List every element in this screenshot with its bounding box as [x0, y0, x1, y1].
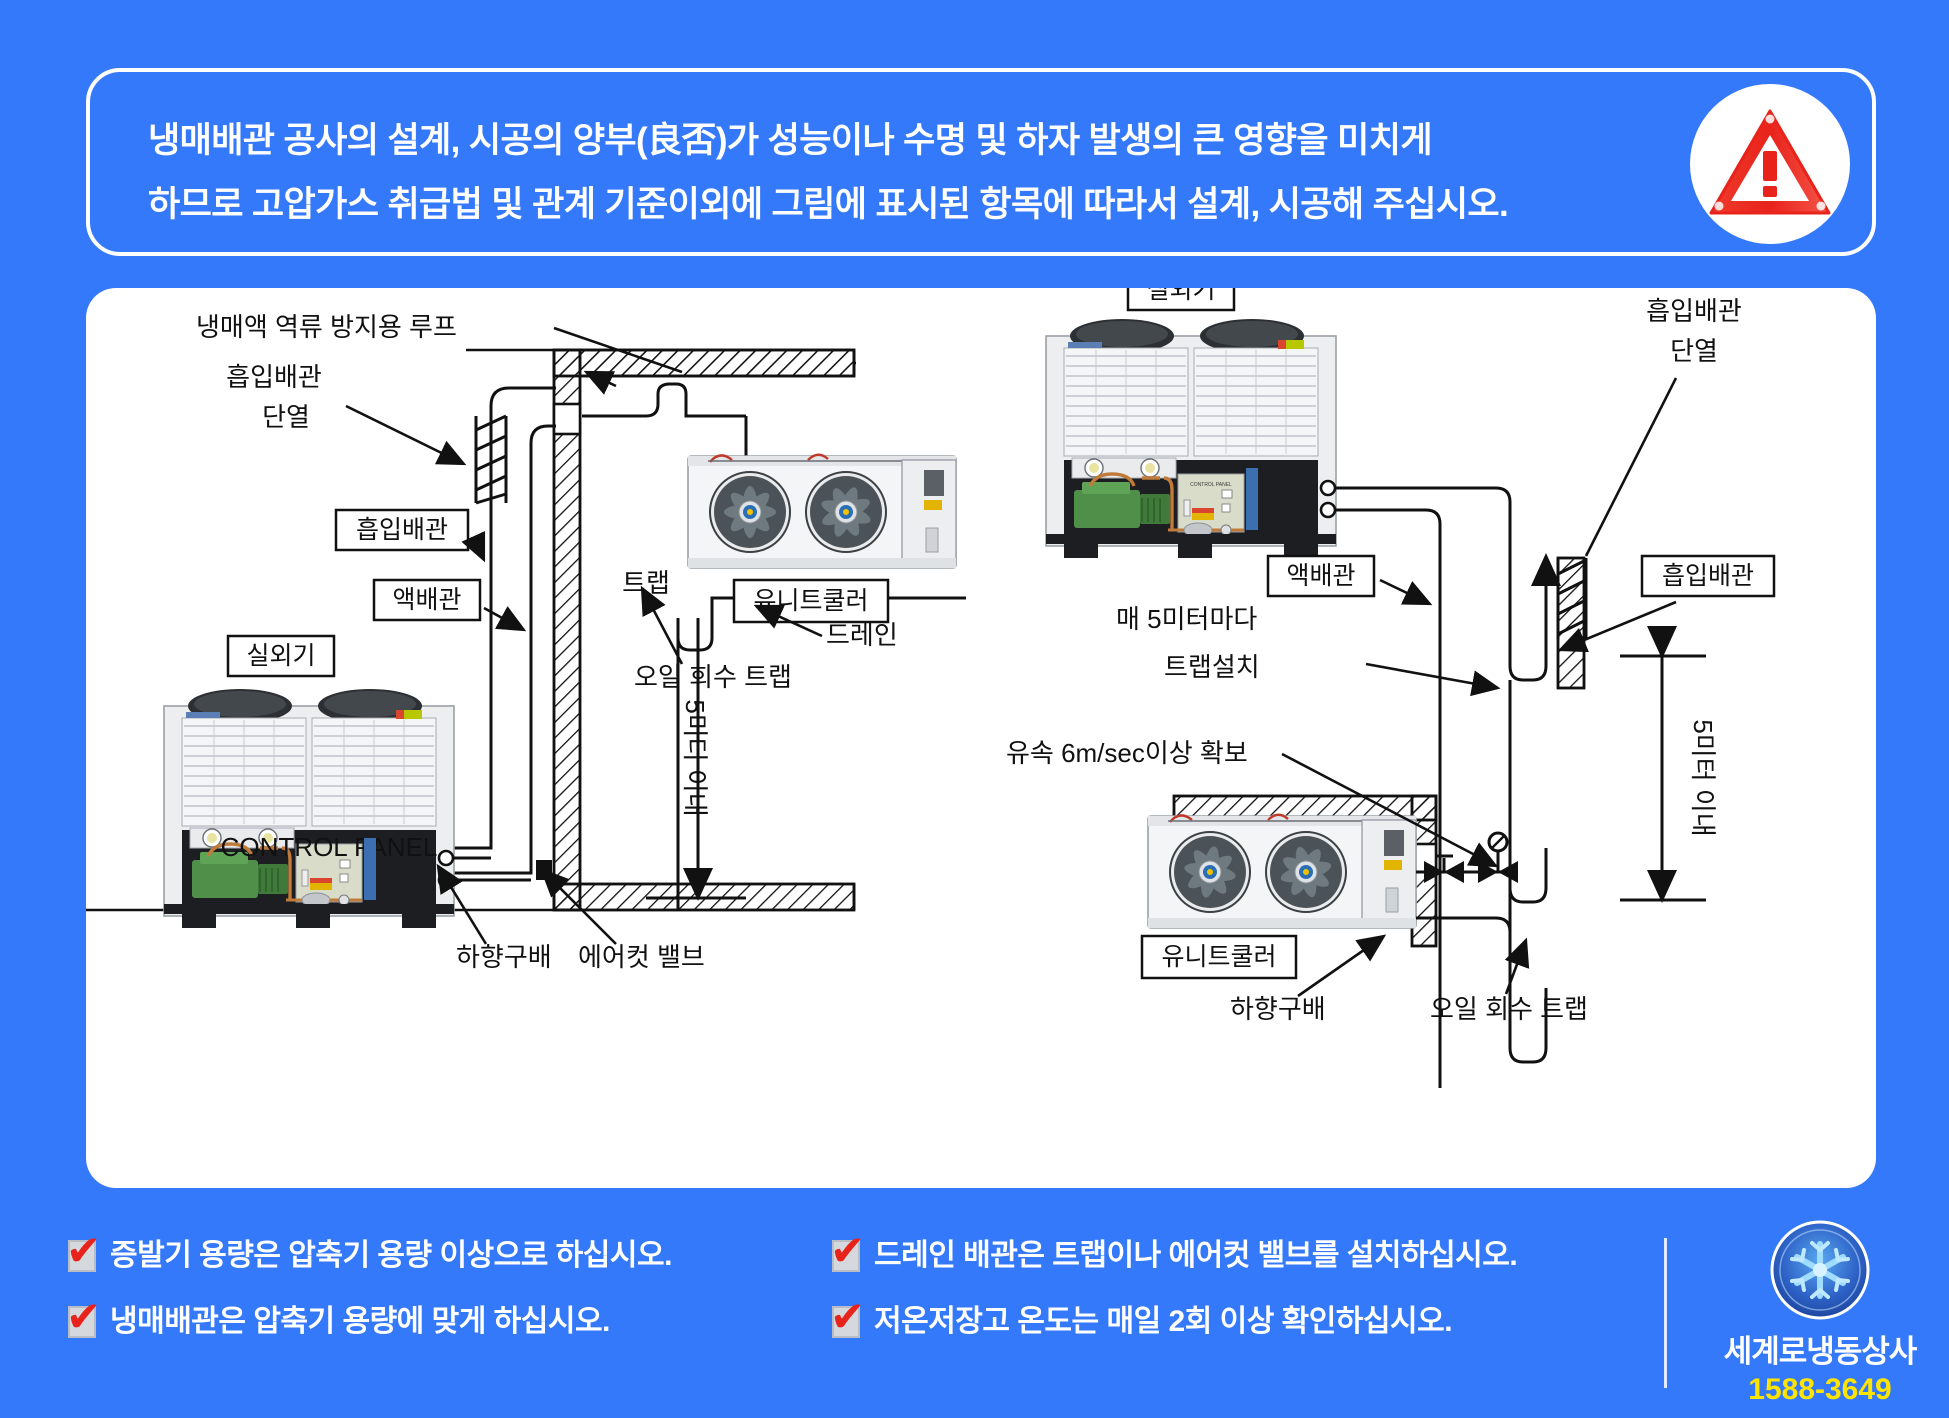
- checklist-item: ✔ 냉매배관은 압축기 용량에 맞게 하십시오.: [68, 1300, 672, 1350]
- outdoor-unit-left-image: CONTROL PANEL: [164, 689, 454, 928]
- header-banner: 냉매배관 공사의 설계, 시공의 양부(良否)가 성능이나 수명 및 하자 발생…: [86, 68, 1876, 256]
- check-mark-icon: ✔: [830, 1296, 865, 1338]
- checklist-item: ✔ 저온저장고 온도는 매일 2회 이상 확인하십시오.: [832, 1300, 1517, 1350]
- checklist-item: ✔ 증발기 용량은 압축기 용량 이상으로 하십시오.: [68, 1234, 672, 1284]
- expansion-valve-right-icon: [1478, 833, 1518, 883]
- checklist-column-right: ✔ 드레인 배관은 트랩이나 에어컷 밸브를 설치하십시오. ✔ 저온저장고 온…: [832, 1234, 1517, 1366]
- label-box-unit-cooler-top: 유니트쿨러: [734, 580, 888, 622]
- label-trap-every-5m-2: 트랩설치: [1164, 652, 1260, 682]
- control-panel-text-right: CONTROL PANEL: [1190, 482, 1232, 488]
- label-box-outdoor-unit-left: 실외기: [228, 636, 334, 676]
- svg-text:흡입배관: 흡입배관: [1662, 562, 1754, 590]
- label-trap-every-5m-1: 매 5미터마다: [1116, 604, 1257, 634]
- label-down-slope-left: 하향구배: [456, 942, 552, 972]
- label-oil-return-trap-right: 오일 회수 트랩: [1430, 994, 1588, 1024]
- checklist-text: 증발기 용량은 압축기 용량 이상으로 하십시오.: [110, 1234, 672, 1278]
- footer-checklist: ✔ 증발기 용량은 압축기 용량 이상으로 하십시오. ✔ 냉매배관은 압축기 …: [0, 1208, 1949, 1418]
- brand-name: 세계로냉동상사: [1700, 1326, 1940, 1371]
- svg-text:실외기: 실외기: [1146, 288, 1215, 304]
- check-mark-icon: ✔: [66, 1230, 101, 1272]
- poster-root: 냉매배관 공사의 설계, 시공의 양부(良否)가 성능이나 수명 및 하자 발생…: [0, 0, 1949, 1418]
- outdoor-unit-right-image: CONTROL PANEL: [1046, 319, 1336, 558]
- checklist-column-left: ✔ 증발기 용량은 압축기 용량 이상으로 하십시오. ✔ 냉매배관은 압축기 …: [68, 1234, 672, 1366]
- label-box-liquid-pipe-left: 액배관: [374, 580, 480, 620]
- unit-cooler-bottom-image: [1148, 815, 1416, 928]
- header-line-2: 하므로 고압가스 취급법 및 관계 기준이외에 그림에 표시된 항목에 따라서 …: [148, 176, 1508, 227]
- label-box-outdoor-unit-right: 실외기: [1128, 288, 1234, 310]
- label-drain: 드레인: [826, 620, 898, 650]
- checkbox-icon: ✔: [68, 1240, 96, 1272]
- svg-text:유니트쿨러: 유니트쿨러: [753, 587, 868, 615]
- svg-text:흡입배관: 흡입배관: [356, 516, 448, 544]
- checkbox-icon: ✔: [832, 1306, 860, 1338]
- svg-text:액배관: 액배관: [1286, 562, 1355, 590]
- unit-cooler-top-image: [688, 455, 956, 568]
- label-box-suction-pipe-left: 흡입배관: [336, 510, 468, 550]
- label-anti-backflow-loop: 냉매액 역류 방지용 루프: [196, 312, 457, 342]
- label-suction-insulation-left-1: 흡입배관: [226, 362, 322, 392]
- checkbox-icon: ✔: [68, 1306, 96, 1338]
- diagram-panel: CONTROL PANEL: [86, 288, 1876, 1188]
- label-suction-insulation-right-1: 흡입배관: [1646, 296, 1742, 326]
- snowflake-badge-icon: [1768, 1218, 1872, 1322]
- svg-text:액배관: 액배관: [392, 586, 461, 614]
- check-mark-icon: ✔: [66, 1296, 101, 1338]
- svg-text:유니트쿨러: 유니트쿨러: [1161, 943, 1276, 971]
- svg-text:실외기: 실외기: [246, 642, 315, 670]
- checklist-item: ✔ 드레인 배관은 트랩이나 에어컷 밸브를 설치하십시오.: [832, 1234, 1517, 1284]
- checkbox-icon: ✔: [832, 1240, 860, 1272]
- dimension-5m-left: 5미터 이내: [680, 699, 710, 816]
- checklist-text: 드레인 배관은 트랩이나 에어컷 밸브를 설치하십시오.: [874, 1234, 1517, 1278]
- check-mark-icon: ✔: [830, 1230, 865, 1272]
- label-box-unit-cooler-bottom: 유니트쿨러: [1142, 936, 1296, 978]
- checklist-text: 냉매배관은 압축기 용량에 맞게 하십시오.: [110, 1300, 610, 1344]
- label-suction-insulation-right-2: 단열: [1670, 336, 1718, 366]
- checklist-text: 저온저장고 온도는 매일 2회 이상 확인하십시오.: [874, 1300, 1452, 1344]
- label-box-liquid-pipe-right: 액배관: [1268, 556, 1374, 596]
- control-panel-text-left: CONTROL PANEL: [221, 832, 438, 862]
- brand-block: 세계로냉동상사 1588-3649: [1700, 1218, 1940, 1407]
- label-suction-insulation-left-2: 단열: [262, 402, 310, 432]
- brand-phone: 1588-3649: [1700, 1373, 1940, 1407]
- warning-triangle-icon: [1690, 84, 1850, 244]
- dimension-5m-right: 5미터 이내: [1688, 719, 1718, 836]
- header-line-1: 냉매배관 공사의 설계, 시공의 양부(良否)가 성능이나 수명 및 하자 발생…: [148, 112, 1432, 163]
- label-down-slope-right: 하향구배: [1230, 994, 1326, 1024]
- piping-diagram: CONTROL PANEL: [86, 288, 1876, 1188]
- label-velocity-note: 유속 6m/sec이상 확보: [1006, 738, 1248, 768]
- footer-divider: [1664, 1238, 1667, 1388]
- label-box-suction-pipe-right: 흡입배관: [1642, 556, 1774, 596]
- label-oil-return-trap-left: 오일 회수 트랩: [634, 662, 792, 692]
- label-air-cut-valve: 에어컷 밸브: [578, 942, 705, 972]
